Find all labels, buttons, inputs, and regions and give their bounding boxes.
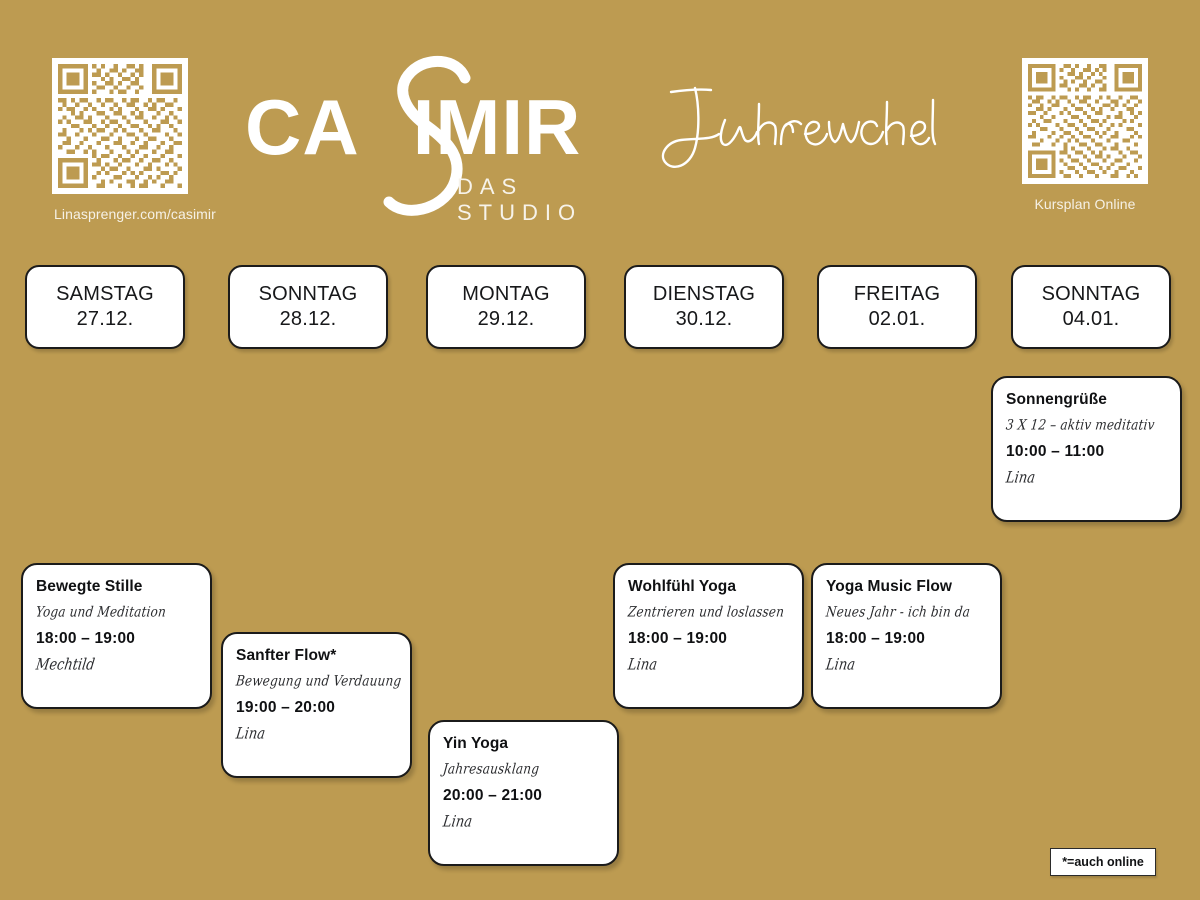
- class-title: Yoga Music Flow: [826, 578, 1000, 596]
- class-subtitle: Yoga und Meditation: [35, 604, 211, 621]
- logo-ca: CA: [245, 83, 360, 171]
- class-title: Sonnengrüße: [1006, 391, 1180, 409]
- day-header-sonntag-28[interactable]: SONNTAG 28.12.: [228, 265, 388, 349]
- logo-wordmark: CASIMIR: [245, 88, 581, 166]
- class-card-yoga-music-flow[interactable]: Yoga Music Flow Neues Jahr - ich bin da …: [811, 563, 1002, 709]
- class-title: Wohlfühl Yoga: [628, 578, 802, 596]
- day-date: 28.12.: [280, 307, 337, 332]
- jahreswechsel-script-icon: [655, 78, 945, 188]
- day-name: SONNTAG: [1042, 282, 1141, 307]
- class-subtitle: Zentrieren und loslassen: [627, 604, 803, 621]
- class-subtitle: Neues Jahr - ich bin da: [825, 604, 1001, 621]
- qr-right-caption: Kursplan Online: [1022, 196, 1148, 212]
- class-card-sonnengruesse[interactable]: Sonnengrüße 3 X 12 – aktiv meditativ 10:…: [991, 376, 1182, 522]
- class-time: 20:00 – 21:00: [443, 787, 617, 805]
- casimir-logo: CASIMIR DAS STUDIO: [245, 70, 645, 200]
- class-subtitle: Jahresausklang: [442, 761, 618, 778]
- qr-code-icon[interactable]: [52, 58, 188, 194]
- day-header-freitag[interactable]: FREITAG 02.01.: [817, 265, 977, 349]
- class-card-wohlfuehl-yoga[interactable]: Wohlfühl Yoga Zentrieren und loslassen 1…: [613, 563, 804, 709]
- day-name: DIENSTAG: [653, 282, 755, 307]
- poster-header: Linasprenger.com/casimir CASIMIR DAS STU…: [0, 0, 1200, 250]
- class-time: 18:00 – 19:00: [36, 630, 210, 648]
- day-date: 27.12.: [77, 307, 134, 332]
- class-subtitle: 3 X 12 – aktiv meditativ: [1005, 417, 1181, 434]
- day-name: MONTAG: [462, 282, 550, 307]
- class-title: Yin Yoga: [443, 735, 617, 753]
- qr-code-glyph: [58, 64, 182, 188]
- qr-code-glyph: [1028, 64, 1142, 178]
- class-teacher: Mechtild: [35, 657, 212, 675]
- class-title: Bewegte Stille: [36, 578, 210, 596]
- class-time: 18:00 – 19:00: [628, 630, 802, 648]
- qr-right-block[interactable]: Kursplan Online: [1022, 58, 1148, 212]
- day-date: 29.12.: [478, 307, 535, 332]
- day-header-montag[interactable]: MONTAG 29.12.: [426, 265, 586, 349]
- day-name: SAMSTAG: [56, 282, 154, 307]
- class-teacher: Lina: [825, 657, 1002, 675]
- class-card-yin-yoga[interactable]: Yin Yoga Jahresausklang 20:00 – 21:00 Li…: [428, 720, 619, 866]
- day-date: 04.01.: [1063, 307, 1120, 332]
- class-time: 18:00 – 19:00: [826, 630, 1000, 648]
- qr-left-caption: Linasprenger.com/casimir: [54, 206, 188, 222]
- class-teacher: Lina: [442, 814, 619, 832]
- class-teacher: Lina: [627, 657, 804, 675]
- class-time: 10:00 – 11:00: [1006, 443, 1180, 461]
- accent-word-jahreswechsel: [655, 78, 945, 188]
- class-title: Sanfter Flow*: [236, 647, 410, 665]
- day-date: 30.12.: [676, 307, 733, 332]
- day-header-samstag[interactable]: SAMSTAG 27.12.: [25, 265, 185, 349]
- class-subtitle: Bewegung und Verdauung: [235, 673, 411, 690]
- legend-online-note: *=auch online: [1050, 848, 1156, 876]
- logo-script-slot: S: [360, 83, 413, 171]
- day-header-sonntag-04[interactable]: SONNTAG 04.01.: [1011, 265, 1171, 349]
- qr-left-block[interactable]: Linasprenger.com/casimir: [52, 58, 188, 222]
- day-name: SONNTAG: [259, 282, 358, 307]
- class-teacher: Lina: [1005, 470, 1182, 488]
- class-teacher: Lina: [235, 726, 412, 744]
- logo-subtitle: DAS STUDIO: [457, 174, 645, 226]
- class-card-sanfter-flow[interactable]: Sanfter Flow* Bewegung und Verdauung 19:…: [221, 632, 412, 778]
- qr-code-icon[interactable]: [1022, 58, 1148, 184]
- logo-imir: IMIR: [413, 83, 582, 171]
- class-time: 19:00 – 20:00: [236, 699, 410, 717]
- legend-label: *=auch online: [1062, 855, 1144, 869]
- class-card-bewegte-stille[interactable]: Bewegte Stille Yoga und Meditation 18:00…: [21, 563, 212, 709]
- day-date: 02.01.: [869, 307, 926, 332]
- day-header-dienstag[interactable]: DIENSTAG 30.12.: [624, 265, 784, 349]
- day-name: FREITAG: [854, 282, 941, 307]
